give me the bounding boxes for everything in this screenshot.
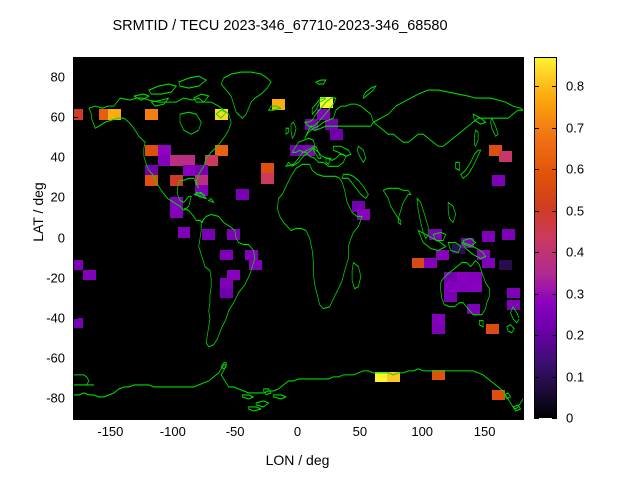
colorbar-tick-label: 0.5 [566,203,584,218]
data-cells-layer [74,58,523,419]
x-tick-mark [173,57,174,62]
x-tick-label: -150 [97,424,123,439]
colorbar-tick-mark [552,294,557,295]
data-cell [444,272,457,283]
colorbar-tick-mark [552,418,557,419]
data-cell [444,292,457,303]
x-tick-label: 0 [294,424,301,439]
x-tick-mark [235,413,236,418]
y-tick-mark [517,238,522,239]
data-cell [436,250,449,261]
y-tick-mark [517,157,522,158]
data-cell [220,278,233,289]
data-cell [457,272,470,283]
data-cell [195,175,208,186]
y-tick-mark [73,278,78,279]
colorbar-tick-label: 0 [566,411,573,426]
data-cell [215,109,228,120]
colorbar [534,57,557,418]
data-cell [145,145,158,156]
colorbar-tick-label: 0.3 [566,286,584,301]
data-cell [220,250,233,261]
colorbar-gradient [535,58,556,417]
colorbar-tick-mark [534,418,539,419]
colorbar-tick-label: 0.6 [566,162,584,177]
x-tick-mark [298,57,299,62]
colorbar-tick-label: 0.1 [566,369,584,384]
x-tick-mark [485,413,486,418]
data-cell [357,209,370,220]
x-tick-mark [422,57,423,62]
data-cell [330,129,343,140]
y-tick-label: 60 [21,110,65,125]
data-cell [170,207,183,218]
data-cell [507,288,520,299]
data-cell [145,109,158,120]
y-tick-mark [73,117,78,118]
y-tick-mark [73,157,78,158]
y-tick-mark [73,197,78,198]
y-tick-label: -60 [21,350,65,365]
colorbar-tick-mark [552,128,557,129]
data-cell [183,165,196,176]
data-cell [145,165,158,176]
y-tick-mark [517,318,522,319]
y-tick-mark [517,117,522,118]
y-tick-mark [73,318,78,319]
chart-title: SRMTID / TECU 2023-346_67710-2023-346_68… [0,18,560,34]
data-cell [236,189,249,200]
y-tick-mark [73,77,78,78]
y-tick-mark [73,398,78,399]
data-cell [83,270,96,281]
data-cell [469,272,482,283]
data-cell [202,229,215,240]
y-tick-mark [517,358,522,359]
data-cell [467,304,480,315]
data-cell [325,119,338,130]
data-cell [499,151,512,162]
x-tick-mark [110,413,111,418]
data-cell [502,229,515,240]
data-cell [195,185,208,196]
colorbar-tick-mark [552,86,557,87]
data-cell [432,314,445,325]
data-cell [245,250,258,261]
data-cell [492,175,505,186]
x-tick-label: 100 [411,424,433,439]
data-cell [170,197,183,208]
x-tick-mark [485,57,486,62]
x-tick-label: 150 [474,424,496,439]
colorbar-tick-mark [552,335,557,336]
data-cell [457,282,470,293]
data-cell [387,372,400,383]
data-cell [261,173,274,184]
data-cell [432,324,445,335]
colorbar-tick-mark [534,211,539,212]
data-cell [108,109,121,120]
colorbar-tick-label: 0.4 [566,245,584,260]
colorbar-tick-label: 0.7 [566,120,584,135]
data-cell [249,260,262,271]
data-cell [412,258,425,269]
data-cell [482,231,495,242]
x-tick-label: -100 [160,424,186,439]
data-cell [178,227,191,238]
x-tick-mark [110,57,111,62]
y-axis-label: LAT / deg [30,142,46,282]
y-tick-mark [517,278,522,279]
data-cell [486,324,499,335]
x-tick-label: 50 [353,424,367,439]
data-cell [302,145,315,156]
data-cell [432,370,445,381]
data-cell [73,260,83,271]
data-cell [469,282,482,293]
x-tick-label: -50 [226,424,245,439]
x-tick-mark [360,57,361,62]
data-cell [444,282,457,293]
data-cell [429,229,442,240]
data-cell [145,175,158,186]
y-tick-mark [73,358,78,359]
data-cell [290,145,303,156]
data-cell [170,155,183,166]
colorbar-tick-mark [534,335,539,336]
data-cell [205,155,218,166]
y-tick-mark [517,197,522,198]
y-tick-mark [517,398,522,399]
data-cell [461,238,474,249]
data-cell [492,390,505,401]
colorbar-tick-mark [552,252,557,253]
x-tick-mark [360,413,361,418]
x-tick-mark [422,413,423,418]
y-tick-label: -80 [21,390,65,405]
x-tick-mark [235,57,236,62]
data-cell [375,372,388,383]
colorbar-tick-mark [534,252,539,253]
x-tick-mark [173,413,174,418]
colorbar-tick-mark [552,377,557,378]
data-cell [317,109,330,120]
colorbar-tick-mark [534,294,539,295]
data-cell [215,145,228,156]
data-cell [261,163,274,174]
data-cell [482,258,495,269]
x-tick-mark [298,413,299,418]
figure-canvas: SRMTID / TECU 2023-346_67710-2023-346_68… [0,0,640,480]
y-tick-mark [73,238,78,239]
colorbar-tick-mark [534,86,539,87]
data-cell [272,99,285,110]
data-cell [507,300,520,311]
data-cell [73,318,83,329]
colorbar-tick-mark [552,169,557,170]
data-cell [158,155,171,166]
colorbar-tick-mark [534,128,539,129]
data-cell [220,288,233,299]
data-cell [499,260,512,271]
colorbar-tick-mark [552,211,557,212]
data-cell [320,97,333,108]
y-tick-mark [517,77,522,78]
plot-area [73,57,524,420]
data-cell [183,155,196,166]
y-tick-label: 80 [21,70,65,85]
data-cell [227,229,240,240]
y-tick-label: -40 [21,310,65,325]
colorbar-tick-mark [534,169,539,170]
data-cell [170,175,183,186]
colorbar-tick-label: 0.8 [566,79,584,94]
data-cell [158,145,171,156]
colorbar-tick-mark [534,377,539,378]
colorbar-tick-label: 0.2 [566,328,584,343]
x-axis-label: LON / deg [73,452,522,468]
data-cell [195,165,208,176]
data-cell [305,119,318,130]
